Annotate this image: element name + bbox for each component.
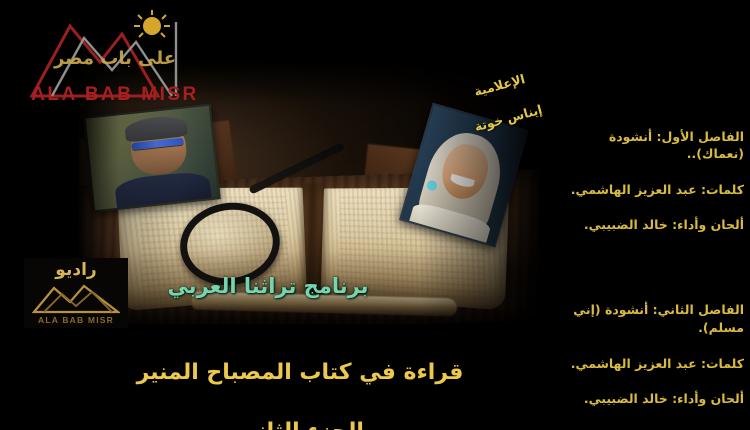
episode-title-line-1: قراءة في كتاب المصباح المنير [120,358,480,388]
radio-logo-brand-text: ALA BAB MISR [24,315,128,325]
program-name: برنامج تراثنا العربي [118,276,418,297]
credits-performance-2: ألحان وأداء: خالد الضبيبي. [558,390,744,408]
credits-performance-1: ألحان وأداء: خالد الضبيبي. [558,216,744,234]
credits-heading-1: الفاصل الأول: أنشودة (نعماك).. [558,128,744,164]
promo-card: على باب مصر ALA BAB MISR راديو ALA BAB M… [0,0,750,430]
radio-logo: راديو ALA BAB MISR [24,258,128,328]
ala-bab-misr-logo: على باب مصر ALA BAB MISR [26,4,204,112]
credits-heading-2: الفاصل الثاني: أنشودة (إني مسلم). [558,301,744,337]
credits-block-second: الفاصل الثاني: أنشودة (إني مسلم). كلمات:… [558,284,744,426]
photo-male-guest-inner [86,106,219,210]
logo-brand-text: ALA BAB MISR [26,84,204,106]
credits-block-first: الفاصل الأول: أنشودة (نعماك).. كلمات: عب… [558,110,744,252]
photo-male-guest [83,104,220,213]
episode-title: قراءة في كتاب المصباح المنير الجزء الثان… [120,328,480,430]
presenter-name-label: إيناس خوتة [456,97,561,140]
radio-word-label: راديو [24,260,128,280]
radio-logo-mountains-icon [32,280,120,314]
credits-lyrics-2: كلمات: عبد العزيز الهاشمي. [558,355,744,373]
episode-title-line-2: الجزء الثاني [120,417,480,430]
credits-panel: الفاصل الأول: أنشودة (نعماك).. كلمات: عب… [558,92,744,430]
logo-calligraphy: على باب مصر [26,48,204,69]
credits-lyrics-1: كلمات: عبد العزيز الهاشمي. [558,181,744,199]
